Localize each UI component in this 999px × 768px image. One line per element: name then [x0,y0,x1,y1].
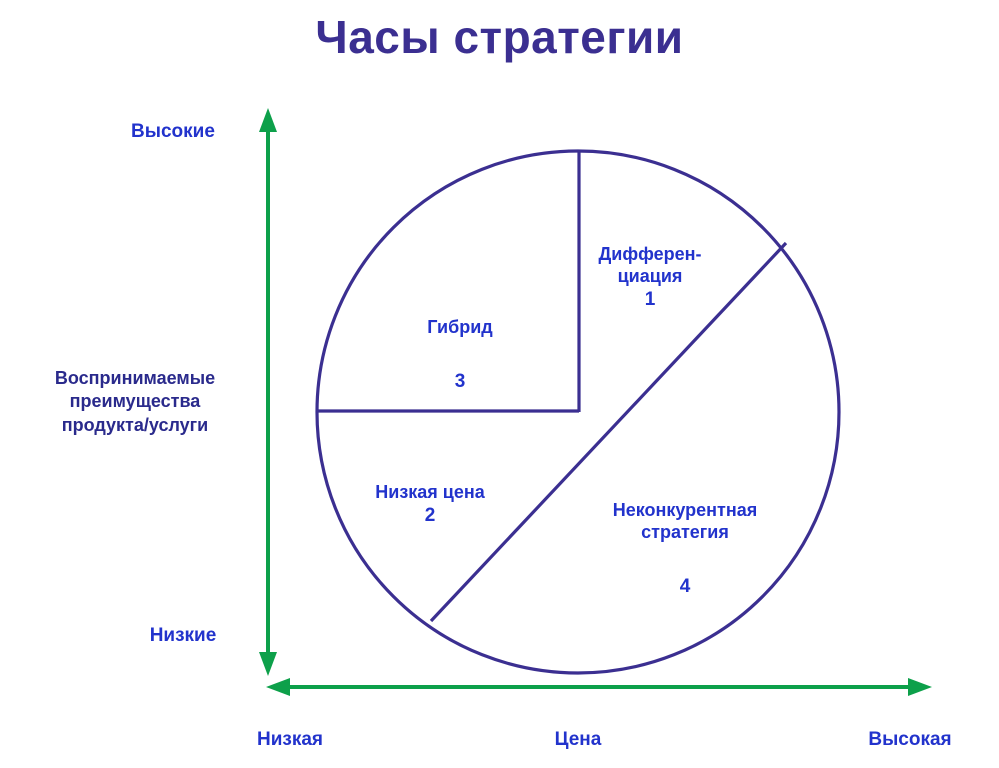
segment-number-1: 1 [645,289,656,310]
y-axis-title: Воспринимаемые преимущества продукта/усл… [22,367,248,437]
segment-name-4: Неконкурентная стратегия [613,500,758,542]
segment-label-differentiation: Дифферен- циация 1 [565,222,735,311]
slide-canvas: Часы стратегии Дифферен- циация 1 Гибрид [0,0,999,768]
x-axis-low-label: Низкая [230,728,350,751]
segment-number-4: 4 [680,576,691,597]
segment-label-noncompetitive: Неконкурентная стратегия 4 [565,478,805,598]
segment-name-1: Дифферен- циация [598,244,701,286]
segment-label-low-price: Низкая цена 2 [330,460,530,527]
spacer [370,339,550,348]
segment-name-2: Низкая цена [375,482,485,502]
segment-number-3: 3 [455,371,466,392]
y-axis-high-label: Высокие [108,120,238,143]
segment-label-hybrid: Гибрид 3 [370,295,550,393]
x-axis-title: Цена [518,728,638,751]
x-axis-arrow [266,678,932,696]
y-axis-arrow [259,108,277,676]
y-axis-low-label: Низкие [128,624,238,647]
x-axis-high-label: Высокая [840,728,980,751]
segment-number-2: 2 [425,505,436,526]
spacer [565,544,805,553]
segment-name-3: Гибрид [427,317,492,337]
